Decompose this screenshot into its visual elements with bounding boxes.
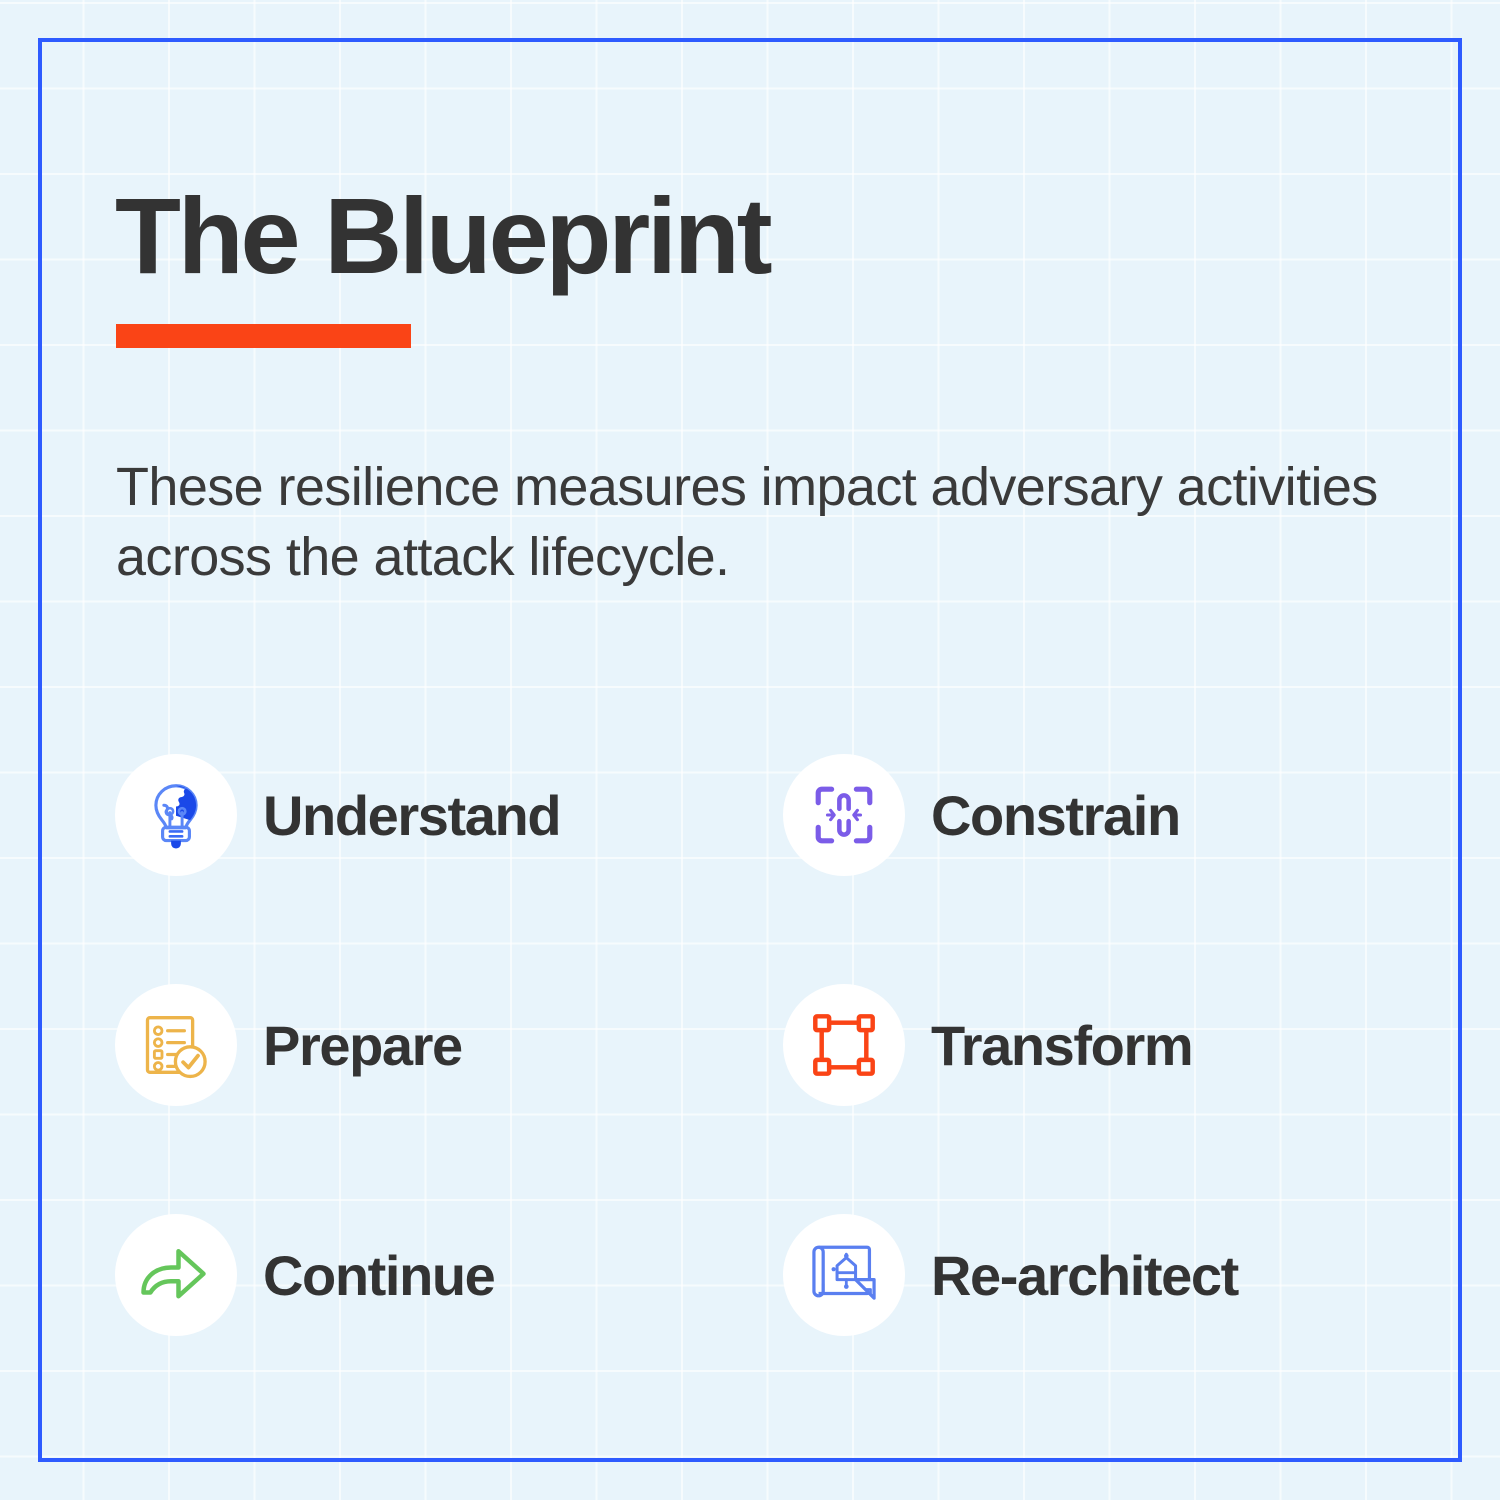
- measures-grid: Understand Constrain: [115, 700, 1415, 1390]
- page-subtitle: These resilience measures impact adversa…: [116, 452, 1386, 592]
- constrain-brackets-icon: [783, 754, 905, 876]
- content-container: The Blueprint These resilience measures …: [115, 0, 1415, 1500]
- measure-label: Prepare: [263, 1013, 462, 1078]
- measure-label: Continue: [263, 1243, 494, 1308]
- title-accent-bar: [116, 324, 411, 348]
- curved-forward-arrow-icon: [115, 1214, 237, 1336]
- measure-item-understand[interactable]: Understand: [115, 700, 783, 930]
- lightbulb-puzzle-icon: [115, 754, 237, 876]
- checklist-check-icon: [115, 984, 237, 1106]
- measure-label: Transform: [931, 1013, 1192, 1078]
- blueprint-ruler-icon: [783, 1214, 905, 1336]
- measure-item-prepare[interactable]: Prepare: [115, 930, 783, 1160]
- measure-item-continue[interactable]: Continue: [115, 1160, 783, 1390]
- measure-item-re-architect[interactable]: Re-architect: [783, 1160, 1415, 1390]
- measure-label: Re-architect: [931, 1243, 1238, 1308]
- page-title: The Blueprint: [115, 182, 769, 290]
- measure-item-transform[interactable]: Transform: [783, 930, 1415, 1160]
- measure-label: Understand: [263, 783, 560, 848]
- measure-item-constrain[interactable]: Constrain: [783, 700, 1415, 930]
- measure-label: Constrain: [931, 783, 1180, 848]
- bounding-box-handles-icon: [783, 984, 905, 1106]
